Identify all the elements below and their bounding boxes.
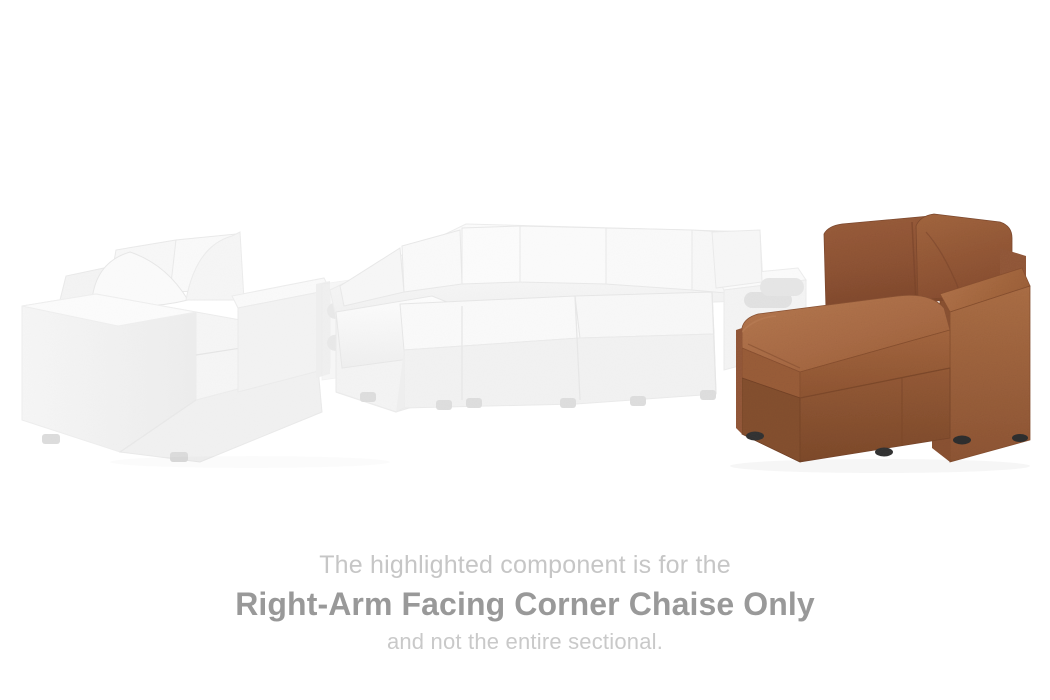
caption-line-disclaimer: and not the entire sectional. [0, 626, 1050, 658]
component-right-arm-facing-corner-chaise-highlighted [736, 214, 1030, 462]
caption-line-component-name: Right-Arm Facing Corner Chaise Only [0, 582, 1050, 626]
sofa-ground-shadow [110, 456, 390, 468]
caption: The highlighted component is for the Rig… [0, 548, 1050, 658]
chaise-ground-shadow [730, 459, 1030, 473]
product-image-canvas: The highlighted component is for the Rig… [0, 0, 1050, 700]
caption-line-primary: The highlighted component is for the [0, 548, 1050, 582]
component-corner-wedge-faded [330, 224, 764, 412]
